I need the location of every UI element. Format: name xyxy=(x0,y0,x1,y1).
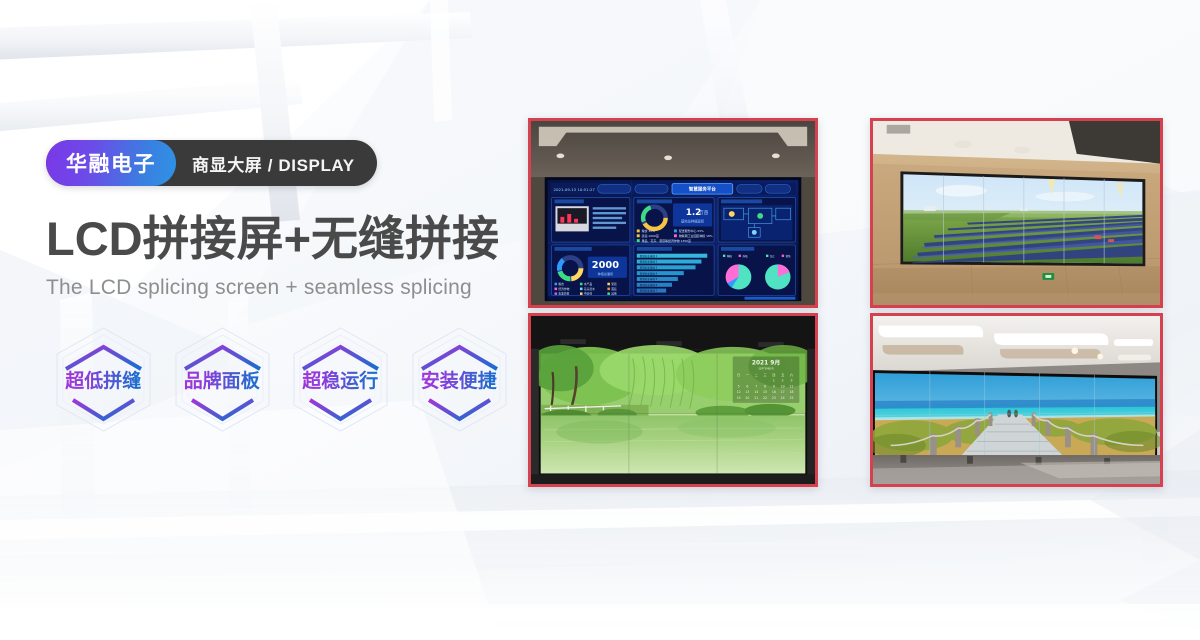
svg-text:智慧农业基地 7: 智慧农业基地 7 xyxy=(640,289,658,293)
svg-text:一: 一 xyxy=(746,373,749,377)
svg-text:菌菇: 菌菇 xyxy=(611,287,617,291)
feature-item-4: 安装便捷 xyxy=(402,322,517,437)
svg-text:14: 14 xyxy=(754,390,758,394)
svg-text:其他: 其他 xyxy=(611,292,617,296)
svg-text:11: 11 xyxy=(789,384,793,388)
svg-text:养殖: 养殖 xyxy=(743,254,749,258)
brand-name-pill: 华融电子 xyxy=(46,140,176,186)
svg-text:种植: 种植 xyxy=(727,254,733,258)
svg-text:经济作物: 经济作物 xyxy=(558,287,569,291)
svg-text:19: 19 xyxy=(737,396,741,400)
banner-text-column: 华融电子 商显大屏 / DISPLAY LCD拼接屏+无缝拼接 The LCD … xyxy=(46,140,516,437)
svg-text:销售: 销售 xyxy=(786,254,792,258)
svg-text:20: 20 xyxy=(745,396,749,400)
page-subtitle: The LCD splicing screen + seamless splic… xyxy=(46,276,516,300)
feature-item-3: 超稳运行 xyxy=(283,322,398,437)
svg-text:三: 三 xyxy=(763,373,766,377)
feature-label-4: 安装便捷 xyxy=(421,366,497,393)
svg-text:2000: 2000 xyxy=(592,260,619,271)
feature-item-1: 超低拼缝 xyxy=(46,322,161,437)
svg-text:12: 12 xyxy=(737,390,741,394)
svg-text:15: 15 xyxy=(763,390,767,394)
svg-text:24: 24 xyxy=(781,396,785,400)
svg-text:8: 8 xyxy=(764,384,766,388)
feature-label-3: 超稳运行 xyxy=(302,366,378,393)
svg-text:16: 16 xyxy=(772,390,776,394)
photo-dashboard-videowall[interactable]: 2021-09-13 10:51:27 智慧服务平台 xyxy=(528,118,818,308)
beachscene-videowall-image xyxy=(873,316,1160,484)
promo-banner: 华融电子 商显大屏 / DISPLAY LCD拼接屏+无缝拼接 The LCD … xyxy=(0,0,1200,640)
svg-text:二: 二 xyxy=(755,373,758,377)
svg-text:果品、花卉、菌菇等经济作物 1350亩: 果品、花卉、菌菇等经济作物 1350亩 xyxy=(642,238,691,243)
svg-text:粮食 30%: 粮食 30% xyxy=(642,228,656,233)
svg-text:智慧农业基地 5: 智慧农业基地 5 xyxy=(640,277,658,281)
svg-text:粮食: 粮食 xyxy=(558,282,564,286)
svg-text:加工: 加工 xyxy=(770,254,776,258)
svg-text:9: 9 xyxy=(773,384,775,388)
svg-text:18: 18 xyxy=(789,390,793,394)
feature-item-2: 品牌面板 xyxy=(165,322,280,437)
photo-beachscene-videowall[interactable]: Large LCD video wall in a lobby showing … xyxy=(870,313,1163,487)
svg-text:22: 22 xyxy=(763,396,767,400)
svg-text:21: 21 xyxy=(754,396,758,400)
dashboard-videowall-image: 2021-09-13 10:51:27 智慧服务平台 xyxy=(531,121,815,305)
svg-text:水产品: 水产品 xyxy=(584,282,592,286)
svg-text:果蔬: 果蔬 xyxy=(611,282,617,286)
svg-text:基地总种植面积: 基地总种植面积 xyxy=(681,219,705,224)
svg-text:六: 六 xyxy=(790,372,793,377)
svg-text:种植总面积: 种植总面积 xyxy=(598,271,614,276)
svg-text:2021-09-13 10:51:27: 2021-09-13 10:51:27 xyxy=(554,187,596,192)
page-title: LCD拼接屏+无缝拼接 xyxy=(46,214,516,263)
badge-category-label: 商显大屏 / DISPLAY xyxy=(176,140,377,186)
svg-text:日: 日 xyxy=(737,373,740,377)
svg-text:13: 13 xyxy=(745,390,749,394)
photo-solarfarm-videowall[interactable]: Wide LCD splicing video wall showing an … xyxy=(870,118,1163,308)
svg-text:SEPTEMBER: SEPTEMBER xyxy=(758,367,773,371)
feature-hexagon-row: 超低拼缝 品牌面板 xyxy=(46,322,516,437)
solarfarm-videowall-image xyxy=(873,121,1160,305)
svg-text:智慧农业基地 4: 智慧农业基地 4 xyxy=(640,271,658,275)
svg-text:23: 23 xyxy=(772,396,776,400)
svg-text:蔬菜 1000亩: 蔬菜 1000亩 xyxy=(642,233,659,238)
svg-text:中药材: 中药材 xyxy=(584,292,592,296)
svg-text:10: 10 xyxy=(781,384,785,388)
svg-text:17: 17 xyxy=(781,390,785,394)
brand-badge: 华融电子 商显大屏 / DISPLAY xyxy=(46,140,377,186)
svg-text:智慧农业基地 1: 智慧农业基地 1 xyxy=(640,254,658,258)
svg-text:配送服务中心 25%: 配送服务中心 25% xyxy=(679,228,704,233)
svg-text:25: 25 xyxy=(789,396,793,400)
feature-label-1: 超低拼缝 xyxy=(65,366,141,393)
svg-text:畜禽养殖: 畜禽养殖 xyxy=(558,292,569,296)
svg-text:6: 6 xyxy=(746,384,748,388)
svg-text:智慧农业基地 6: 智慧农业基地 6 xyxy=(640,283,658,287)
svg-text:物联网工业园区种植 18%: 物联网工业园区种植 18% xyxy=(679,233,713,238)
lakescene-videowall-image: 2021 9月 SEPTEMBER 日一二 三四五六 123 5678 9101… xyxy=(531,316,815,484)
svg-text:智慧农业基地 3: 智慧农业基地 3 xyxy=(640,266,658,270)
svg-text:万亩: 万亩 xyxy=(699,209,708,216)
svg-text:花卉苗木: 花卉苗木 xyxy=(584,287,595,291)
svg-text:五: 五 xyxy=(781,373,784,377)
svg-text:智慧农业基地 2: 智慧农业基地 2 xyxy=(640,260,658,264)
svg-text:3: 3 xyxy=(790,379,792,383)
svg-text:智慧服务平台: 智慧服务平台 xyxy=(689,186,716,193)
svg-text:5: 5 xyxy=(738,384,740,388)
svg-text:2: 2 xyxy=(782,379,784,383)
feature-label-2: 品牌面板 xyxy=(184,366,260,393)
svg-text:四: 四 xyxy=(772,373,775,377)
svg-text:7: 7 xyxy=(755,384,757,388)
svg-text:2021 9月: 2021 9月 xyxy=(752,358,780,366)
photo-lakescene-videowall[interactable]: 2021 9月 SEPTEMBER 日一二 三四五六 123 5678 9101… xyxy=(528,313,818,487)
svg-text:1: 1 xyxy=(773,379,775,383)
